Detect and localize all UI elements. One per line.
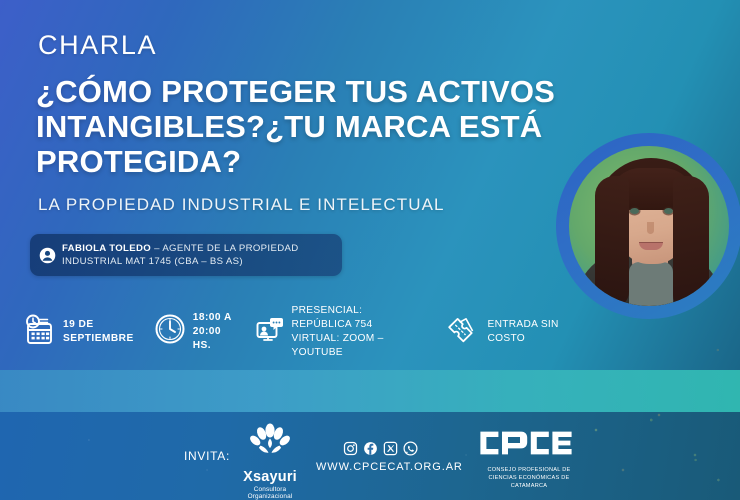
speaker-name: FABIOLA TOLEDO [62,243,151,254]
info-price: ENTRADA SIN COSTO [446,316,582,349]
subtitle: LA PROPIEDAD INDUSTRIAL E INTELECTUAL [38,196,445,213]
info-date-text: 19 DE SEPTIEMBRE [63,318,134,346]
flyer-canvas: CHARLA ¿CÓMO PROTEGER TUS ACTIVOS INTANG… [0,0,740,500]
xsayuri-name: Xsayuri [231,469,309,485]
kicker-label: CHARLA [38,32,157,59]
cpcec-logo [478,428,580,458]
screen-video-call-icon [255,315,285,350]
instagram-icon[interactable] [343,441,358,456]
photo-nose [647,222,654,234]
xsayuri-plant-logo [247,423,293,463]
xsayuri-tagline: Consultora Organizacional [231,486,309,500]
speaker-role-line2: INDUSTRIAL MAT 1745 (CBA – BS AS) [62,256,243,267]
info-location: PRESENCIAL: REPÚBLICA 754 VIRTUAL: ZOOM … [255,304,425,360]
speaker-dash: – [151,243,162,254]
info-time: 18:00 A 20:00 HS. [154,311,233,353]
photo-top [629,262,673,306]
photo-eye-right [664,208,673,214]
speaker-badge: FABIOLA TOLEDO – AGENTE DE LA PROPIEDAD … [30,234,342,276]
photo-hair-right [673,176,709,306]
tickets-icon [446,316,480,349]
website-url[interactable]: WWW.CPCECAT.ORG.AR [316,461,463,473]
info-location-text: PRESENCIAL: REPÚBLICA 754 VIRTUAL: ZOOM … [292,304,425,360]
person-avatar-icon [39,247,56,264]
footer-band [0,412,740,500]
facebook-icon[interactable] [363,441,378,456]
info-price-text: ENTRADA SIN COSTO [487,318,582,346]
xsayuri-logo-block[interactable]: Xsayuri Consultora Organizacional [231,423,309,500]
cpcec-subtitle: CONSEJO PROFESIONAL DE CIENCIAS ECONÓMIC… [470,466,588,490]
page-title: ¿CÓMO PROTEGER TUS ACTIVOS INTANGIBLES?¿… [36,74,616,179]
social-links [343,441,418,456]
speaker-text: FABIOLA TOLEDO – AGENTE DE LA PROPIEDAD … [62,242,299,268]
x-twitter-icon[interactable] [383,441,398,456]
cpcec-logo-block[interactable]: CONSEJO PROFESIONAL DE CIENCIAS ECONÓMIC… [470,428,588,490]
info-time-text: 18:00 A 20:00 HS. [193,311,233,353]
speaker-role-line1: AGENTE DE LA PROPIEDAD [162,243,298,254]
photo-eye-left [630,208,639,214]
info-date: 19 DE SEPTIEMBRE [22,313,134,352]
calendar-clock-icon [22,313,56,352]
event-info-row: 19 DE SEPTIEMBRE 18:00 A 20:00 HS. [22,308,582,356]
teal-divider-band [0,370,740,412]
invita-label: INVITA: [184,449,230,463]
clock-icon [154,313,186,350]
whatsapp-icon[interactable] [403,441,418,456]
photo-hair-left [595,176,629,306]
